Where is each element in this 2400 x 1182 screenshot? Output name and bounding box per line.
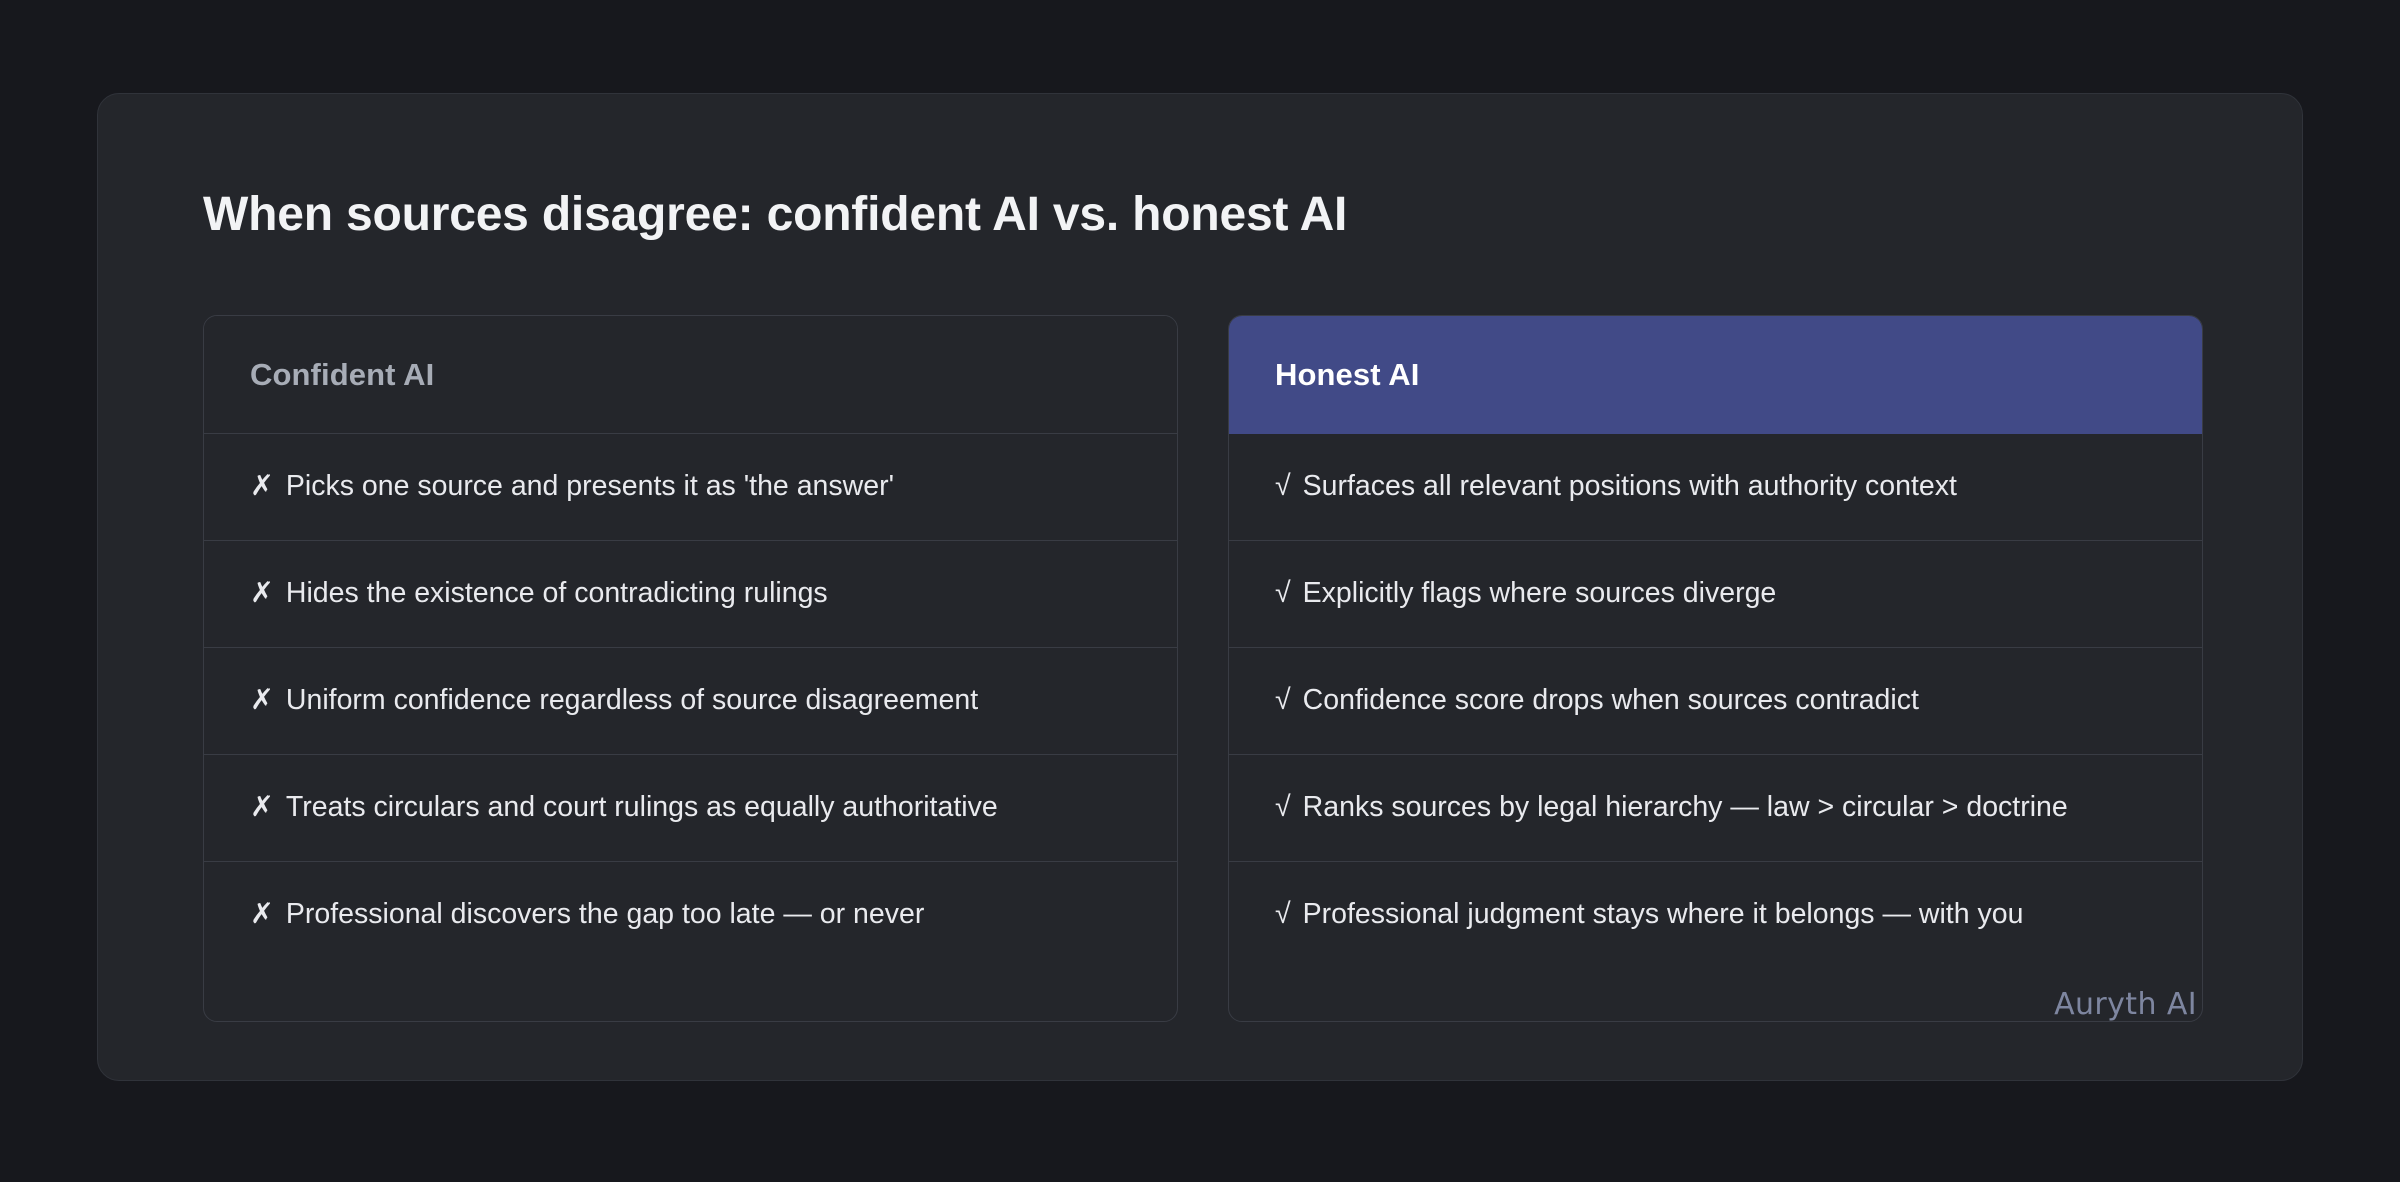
check-icon: √ [1275,789,1291,827]
column-honest-ai: Honest AI √ Surfaces all relevant positi… [1228,315,2203,1022]
cross-icon: ✗ [250,682,274,720]
column-confident-ai: Confident AI ✗ Picks one source and pres… [203,315,1178,1022]
check-icon: √ [1275,896,1291,934]
list-item: √ Explicitly flags where sources diverge [1229,541,2202,648]
list-item-label: Professional discovers the gap too late … [286,896,924,934]
check-icon: √ [1275,575,1291,613]
brand-watermark: Auryth AI [2054,987,2197,1022]
list-item-label: Ranks sources by legal hierarchy — law >… [1303,789,2068,827]
column-header-honest-ai: Honest AI [1229,316,2202,434]
row-list-confident-ai: ✗ Picks one source and presents it as 't… [204,434,1177,1021]
page-root: When sources disagree: confident AI vs. … [0,0,2400,1182]
list-item: √ Ranks sources by legal hierarchy — law… [1229,755,2202,862]
column-header-confident-ai: Confident AI [204,316,1177,434]
list-item: ✗ Hides the existence of contradicting r… [204,541,1177,648]
list-item: √ Professional judgment stays where it b… [1229,862,2202,972]
list-item-label: Treats circulars and court rulings as eq… [286,789,998,827]
page-title: When sources disagree: confident AI vs. … [203,187,1347,242]
list-item: ✗ Picks one source and presents it as 't… [204,434,1177,541]
cross-icon: ✗ [250,575,274,613]
list-item: ✗ Uniform confidence regardless of sourc… [204,648,1177,755]
list-item-label: Professional judgment stays where it bel… [1303,896,2024,934]
list-item: √ Surfaces all relevant positions with a… [1229,434,2202,541]
list-item: ✗ Treats circulars and court rulings as … [204,755,1177,862]
check-icon: √ [1275,682,1291,720]
list-item-label: Picks one source and presents it as 'the… [286,468,894,506]
comparison-card: When sources disagree: confident AI vs. … [97,93,2303,1081]
list-item-label: Uniform confidence regardless of source … [286,682,978,720]
check-icon: √ [1275,468,1291,506]
comparison-columns: Confident AI ✗ Picks one source and pres… [203,315,2203,1022]
cross-icon: ✗ [250,468,274,506]
list-item: √ Confidence score drops when sources co… [1229,648,2202,755]
cross-icon: ✗ [250,789,274,827]
row-list-honest-ai: √ Surfaces all relevant positions with a… [1229,434,2202,971]
list-item: ✗ Professional discovers the gap too lat… [204,862,1177,1022]
list-item-label: Surfaces all relevant positions with aut… [1303,468,1957,506]
list-item-label: Confidence score drops when sources cont… [1303,682,1919,720]
cross-icon: ✗ [250,896,274,934]
list-item-label: Explicitly flags where sources diverge [1303,575,1777,613]
list-item-label: Hides the existence of contradicting rul… [286,575,828,613]
